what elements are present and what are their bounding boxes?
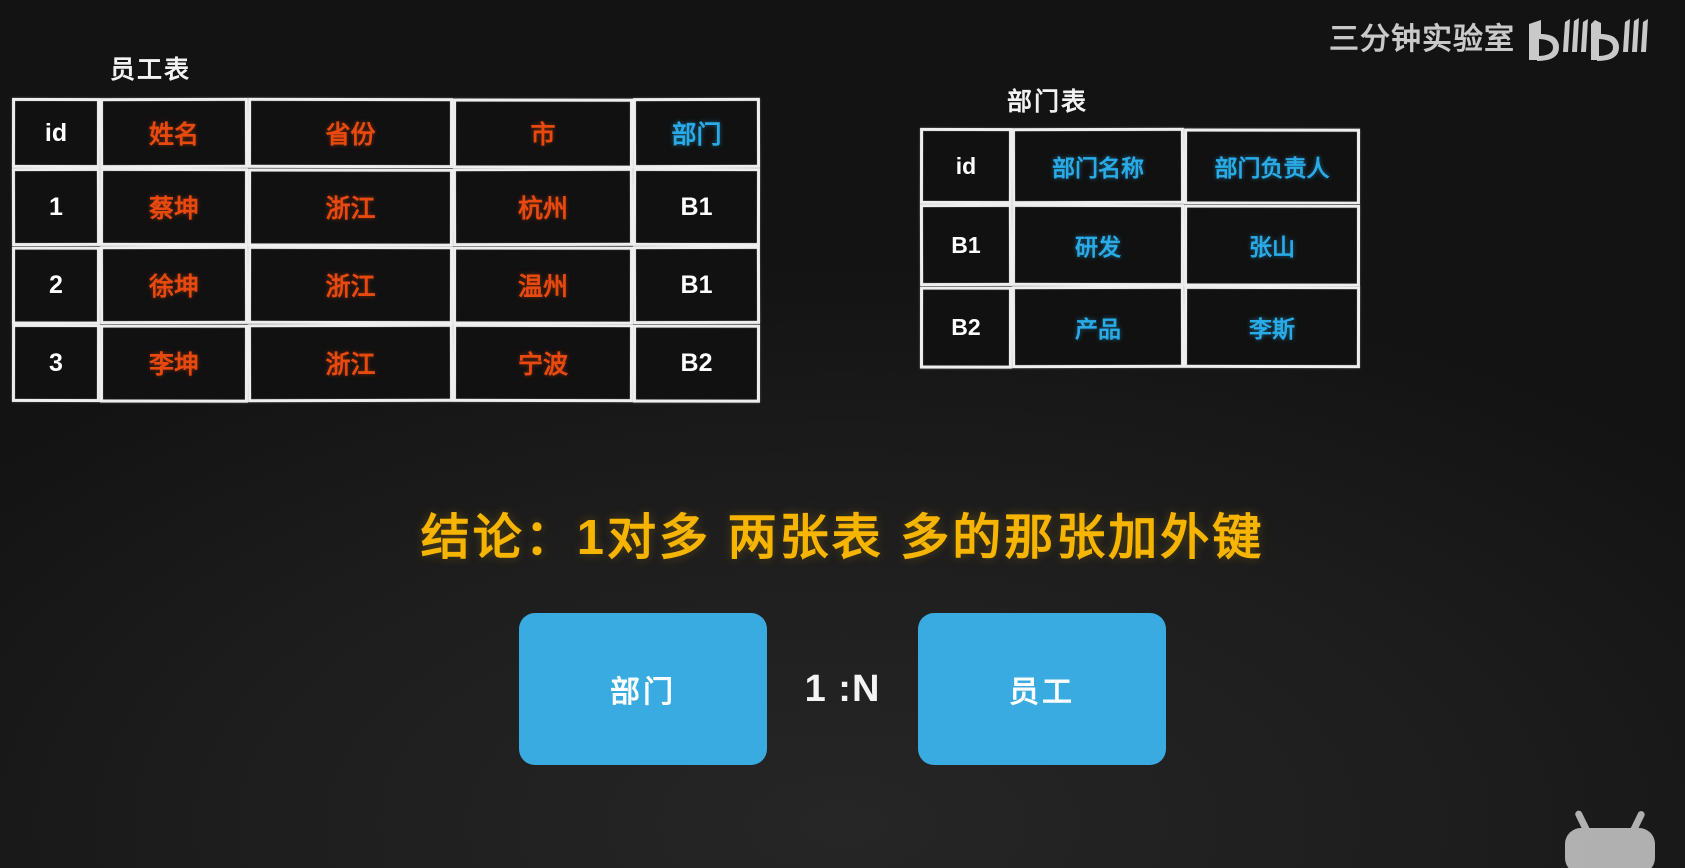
cell-city: 宁波 <box>453 324 633 402</box>
cell-city: 杭州 <box>453 168 633 246</box>
channel-name: 三分钟实验室 <box>1329 25 1515 55</box>
cell-id: 3 <box>12 324 100 402</box>
cell-name: 李坤 <box>100 324 248 402</box>
cell-dept: B1 <box>633 168 760 246</box>
column-header-name: 姓名 <box>100 98 248 168</box>
column-header-dept: 部门 <box>633 98 760 168</box>
column-header-province: 省份 <box>248 98 453 168</box>
cell-id: 2 <box>12 246 100 324</box>
slide-canvas: 三分钟实验室 员工表 <box>0 0 1685 868</box>
table-header-row: id 部门名称 部门负责人 <box>920 128 1360 204</box>
cell-name: 蔡坤 <box>100 168 248 246</box>
cell-city: 温州 <box>453 246 633 324</box>
employee-table-title: 员工表 <box>110 50 191 86</box>
channel-watermark: 三分钟实验室 <box>1329 18 1667 62</box>
department-table: id 部门名称 部门负责人 B1 研发 张山 B2 产品 李斯 <box>920 128 1360 368</box>
column-header-city: 市 <box>453 98 633 168</box>
table-row: 1 蔡坤 浙江 杭州 B1 <box>12 168 760 246</box>
table-row: B2 产品 李斯 <box>920 286 1360 368</box>
table-row: 2 徐坤 浙江 温州 B1 <box>12 246 760 324</box>
relation-box-employee-label: 员工 <box>1009 667 1075 711</box>
employee-table: id 姓名 省份 市 部门 1 蔡坤 浙江 杭州 B1 2 徐坤 浙江 温州 B… <box>12 98 760 402</box>
column-header-dept-head: 部门负责人 <box>1184 128 1360 204</box>
cell-dept-head: 李斯 <box>1184 286 1360 368</box>
cell-province: 浙江 <box>248 168 453 246</box>
cell-dept: B2 <box>633 324 760 402</box>
cell-dept-name: 研发 <box>1012 204 1184 286</box>
cell-province: 浙江 <box>248 246 453 324</box>
table-header-row: id 姓名 省份 市 部门 <box>12 98 760 168</box>
relation-diagram: 部门 1 :N 员工 <box>0 613 1685 765</box>
cell-id: B1 <box>920 204 1012 286</box>
relation-cardinality-label: 1 :N <box>767 668 918 711</box>
relation-box-employee: 员工 <box>918 613 1166 765</box>
cell-dept: B1 <box>633 246 760 324</box>
conclusion-text: 结论：1对多 两张表 多的那张加外键 <box>0 498 1685 569</box>
cell-dept-head: 张山 <box>1184 204 1360 286</box>
cell-dept-name: 产品 <box>1012 286 1184 368</box>
cell-id: B2 <box>920 286 1012 368</box>
column-header-id: id <box>920 128 1012 204</box>
cell-province: 浙江 <box>248 324 453 402</box>
relation-box-department: 部门 <box>519 613 767 765</box>
table-row: B1 研发 张山 <box>920 204 1360 286</box>
cell-name: 徐坤 <box>100 246 248 324</box>
column-header-id: id <box>12 98 100 168</box>
department-table-title: 部门表 <box>1007 82 1088 118</box>
bilibili-logo-icon <box>1527 18 1667 62</box>
relation-box-department-label: 部门 <box>610 667 676 711</box>
cell-id: 1 <box>12 168 100 246</box>
table-row: 3 李坤 浙江 宁波 B2 <box>12 324 760 402</box>
column-header-dept-name: 部门名称 <box>1012 128 1184 204</box>
bilibili-tv-head-icon <box>1555 806 1665 868</box>
